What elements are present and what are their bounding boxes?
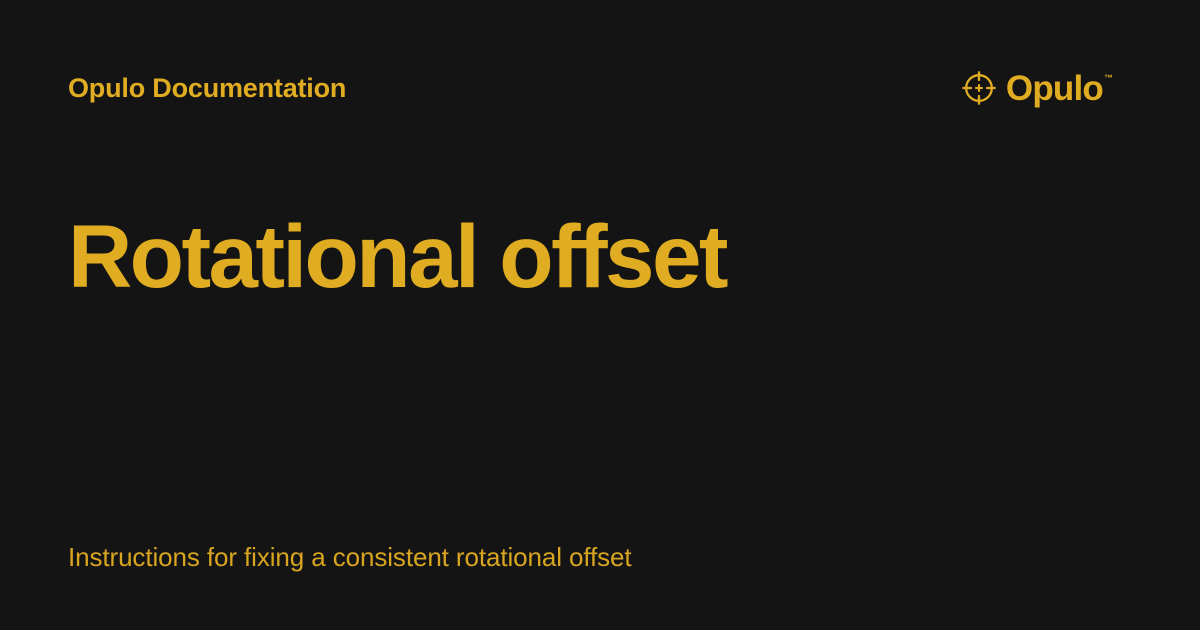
site-header: Opulo Documentation Opulo ™ [68, 66, 1113, 110]
og-card: Opulo Documentation Opulo ™ Rotational o… [0, 0, 1200, 630]
brand-wordmark: Opulo ™ [1006, 71, 1113, 106]
page-subtitle: Instructions for fixing a consistent rot… [68, 541, 632, 575]
brand-wordmark-text: Opulo [1006, 71, 1103, 106]
page-title: Rotational offset [68, 210, 726, 303]
brand-logo[interactable]: Opulo ™ [960, 68, 1113, 108]
crosshair-target-icon [960, 69, 998, 107]
trademark-symbol: ™ [1104, 74, 1113, 83]
site-title: Opulo Documentation [68, 75, 346, 102]
